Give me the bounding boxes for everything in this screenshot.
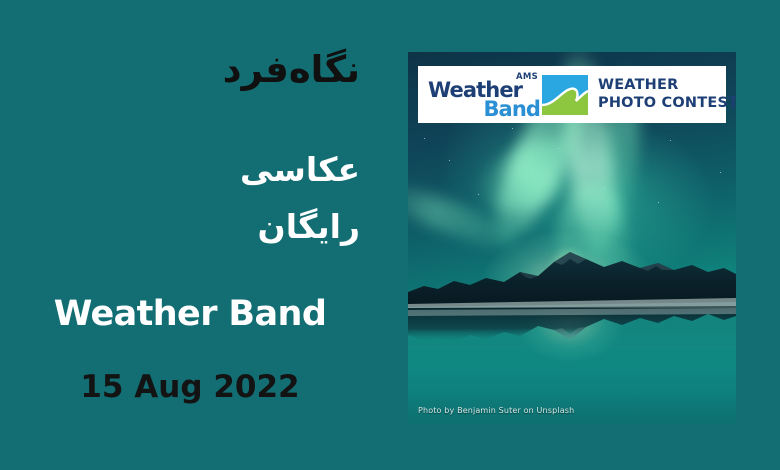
photo-credit: Photo by Benjamin Suter on Unsplash bbox=[418, 406, 574, 415]
event-date: 15 Aug 2022 bbox=[80, 370, 303, 404]
landscape-mark-icon bbox=[542, 75, 588, 115]
mountain-range bbox=[408, 248, 736, 310]
left-text-column: نگاه‌فرد عکاسی رایگان Weather Band 15 Au… bbox=[0, 0, 392, 470]
contest-banner: AMS Weather Band WEATHER PHOTO CONTEST bbox=[418, 66, 726, 123]
poster-canvas: نگاه‌فرد عکاسی رایگان Weather Band 15 Au… bbox=[0, 0, 780, 470]
headline-persian: نگاه‌فرد bbox=[223, 50, 360, 91]
contest-title-line1: WEATHER bbox=[598, 77, 736, 94]
contest-title: WEATHER PHOTO CONTEST bbox=[598, 77, 736, 111]
subtitle-persian-line2: رایگان bbox=[258, 206, 360, 247]
contest-title-line2: PHOTO CONTEST bbox=[598, 95, 736, 112]
ams-weather-band-logo: AMS Weather Band bbox=[428, 72, 540, 118]
subtitle-persian-line1: عکاسی bbox=[240, 149, 360, 190]
logo-word-band: Band bbox=[483, 99, 540, 120]
brand-name: Weather Band bbox=[54, 295, 331, 334]
weather-photo-contest-card: Photo by Benjamin Suter on Unsplash AMS … bbox=[408, 52, 736, 424]
